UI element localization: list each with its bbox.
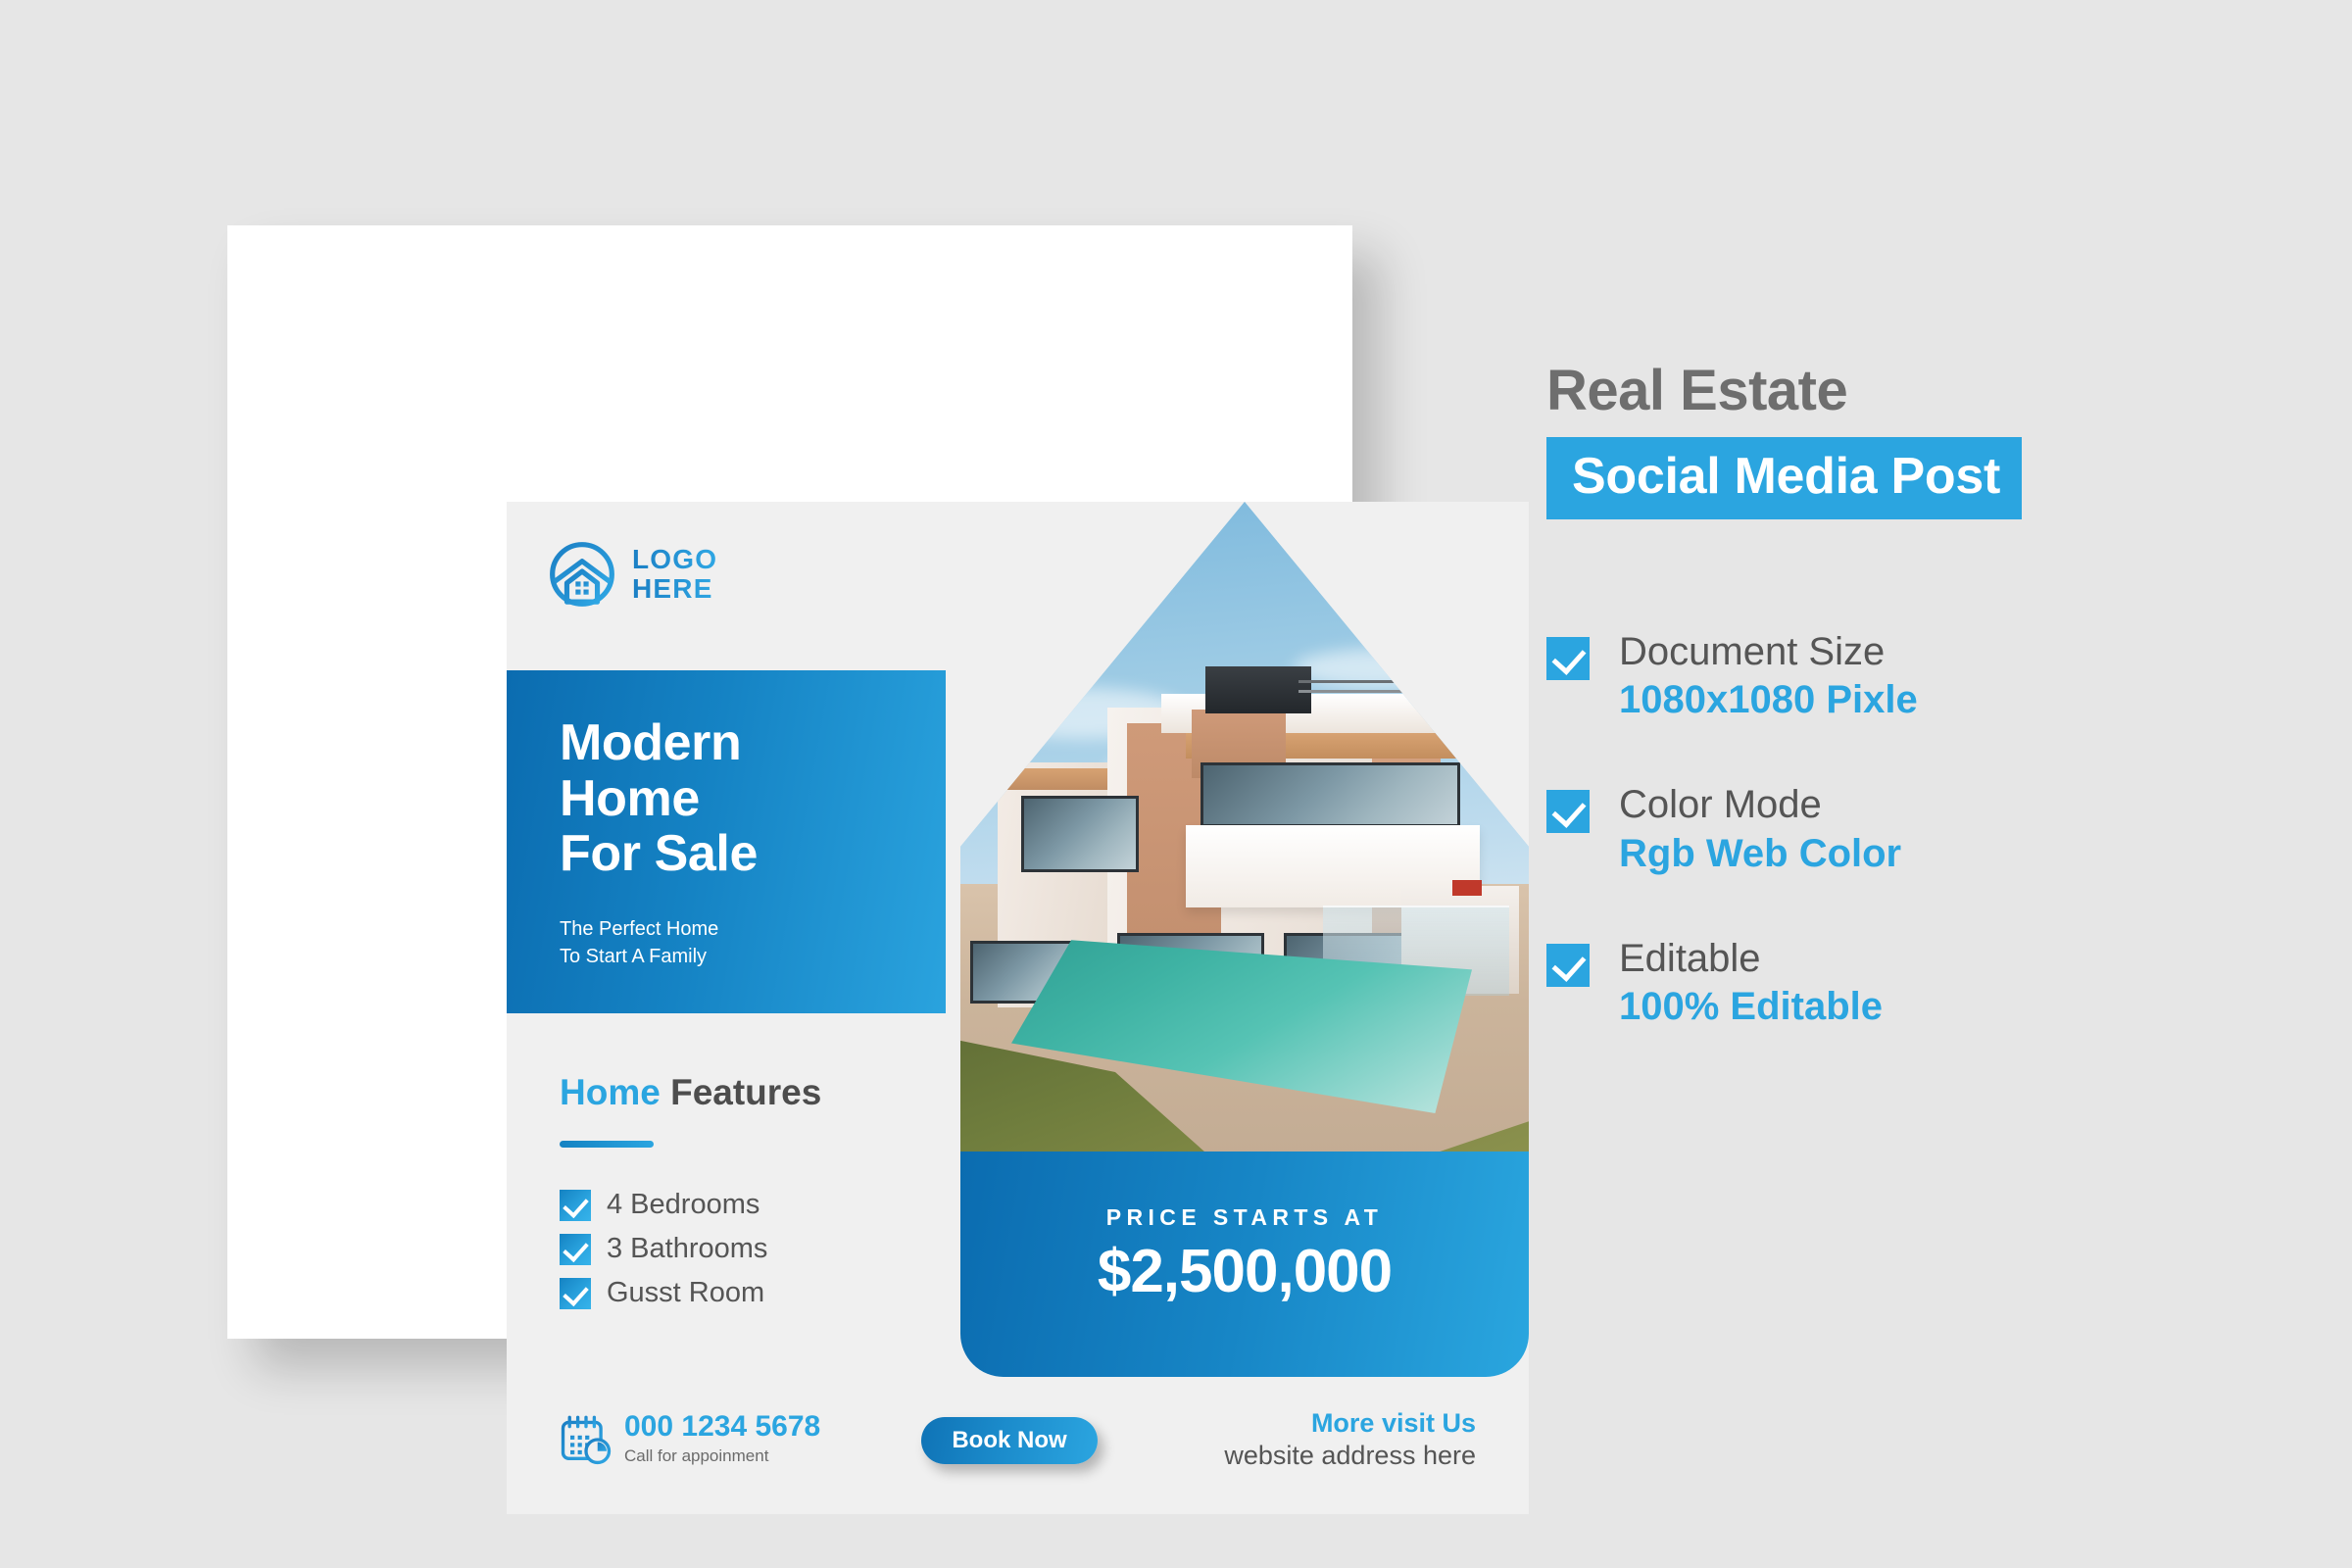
red-sign: [1452, 880, 1482, 896]
logo-line-1: LOGO: [632, 545, 717, 574]
subheadline-line-1: The Perfect Home: [560, 915, 946, 943]
home-features-section: Home Features 4 Bedrooms 3 Bathrooms Gus…: [560, 1072, 981, 1321]
post-footer: 000 1234 5678 Call for appoinment Book N…: [507, 1403, 1529, 1514]
visit-info[interactable]: More visit Us website address here: [1224, 1409, 1476, 1471]
logo-wordmark: LOGO HERE: [632, 545, 717, 603]
logo[interactable]: LOGO HERE: [546, 538, 717, 611]
spec-subtitle-badge: Social Media Post: [1546, 437, 2022, 519]
check-icon: [560, 1190, 591, 1221]
headline-line-1: Modern: [560, 715, 946, 771]
check-icon: [1546, 637, 1590, 680]
heading-underline: [560, 1141, 654, 1148]
property-photo: [960, 502, 1529, 1178]
visit-title: More visit Us: [1224, 1409, 1476, 1439]
headline-panel: Modern Home For Sale The Perfect Home To…: [507, 670, 946, 1013]
website-address: website address here: [1224, 1441, 1476, 1471]
list-item: Editable 100% Editable: [1546, 936, 2291, 1032]
spec-label: Editable: [1619, 936, 1883, 982]
headline-line-3: For Sale: [560, 826, 946, 882]
call-note: Call for appoinment: [624, 1446, 820, 1466]
spec-title: Real Estate: [1546, 363, 2291, 419]
window-glass: [1021, 796, 1139, 872]
spec-label: Color Mode: [1619, 782, 1901, 828]
features-heading-rest: Features: [661, 1072, 822, 1112]
price-amount: $2,500,000: [960, 1237, 1529, 1306]
roof-railing: [1298, 680, 1426, 683]
list-item: Document Size 1080x1080 Pixle: [1546, 629, 2291, 725]
page-title: Modern Home For Sale: [560, 715, 946, 882]
spec-text: Editable 100% Editable: [1619, 936, 1883, 1032]
spec-panel: Real Estate Social Media Post Document S…: [1546, 363, 2291, 1089]
check-icon: [560, 1234, 591, 1265]
logo-line-2: HERE: [632, 574, 717, 604]
home-circle-logo-icon: [546, 538, 618, 611]
headline-line-2: Home: [560, 771, 946, 827]
window-glass: [1200, 762, 1460, 827]
check-icon: [1546, 790, 1590, 833]
list-item[interactable]: Gusst Room: [560, 1277, 981, 1309]
spec-value: 100% Editable: [1619, 982, 1883, 1032]
spec-text: Document Size 1080x1080 Pixle: [1619, 629, 1918, 725]
features-list: 4 Bedrooms 3 Bathrooms Gusst Room: [560, 1189, 981, 1309]
subheadline-line-2: To Start A Family: [560, 943, 946, 970]
spec-value: Rgb Web Color: [1619, 829, 1901, 879]
spec-text: Color Mode Rgb Web Color: [1619, 782, 1901, 878]
feature-label: 4 Bedrooms: [607, 1189, 759, 1221]
spec-value: 1080x1080 Pixle: [1619, 675, 1918, 725]
list-item[interactable]: 3 Bathrooms: [560, 1233, 981, 1265]
contact-info[interactable]: 000 1234 5678 Call for appoinment: [560, 1411, 820, 1466]
features-heading: Home Features: [560, 1072, 981, 1113]
roof-parapet: [1205, 666, 1311, 713]
features-heading-highlight: Home: [560, 1072, 661, 1112]
check-icon: [560, 1278, 591, 1309]
subheadline: The Perfect Home To Start A Family: [560, 915, 946, 971]
price-card: PRICE STARTS AT $2,500,000: [960, 1151, 1529, 1377]
social-post-canvas: LOGO HERE: [507, 502, 1529, 1514]
book-now-button[interactable]: Book Now: [921, 1417, 1098, 1464]
list-item[interactable]: 4 Bedrooms: [560, 1189, 981, 1221]
phone-number: 000 1234 5678: [624, 1411, 820, 1443]
list-item: Color Mode Rgb Web Color: [1546, 782, 2291, 878]
spec-list: Document Size 1080x1080 Pixle Color Mode…: [1546, 629, 2291, 1032]
mockup-card: LOGO HERE: [227, 225, 1352, 1339]
spec-label: Document Size: [1619, 629, 1918, 675]
feature-label: Gusst Room: [607, 1277, 764, 1309]
price-kicker: PRICE STARTS AT: [960, 1204, 1529, 1231]
feature-label: 3 Bathrooms: [607, 1233, 767, 1265]
contact-text: 000 1234 5678 Call for appoinment: [624, 1411, 820, 1466]
check-icon: [1546, 944, 1590, 987]
calendar-clock-icon: [560, 1414, 612, 1465]
